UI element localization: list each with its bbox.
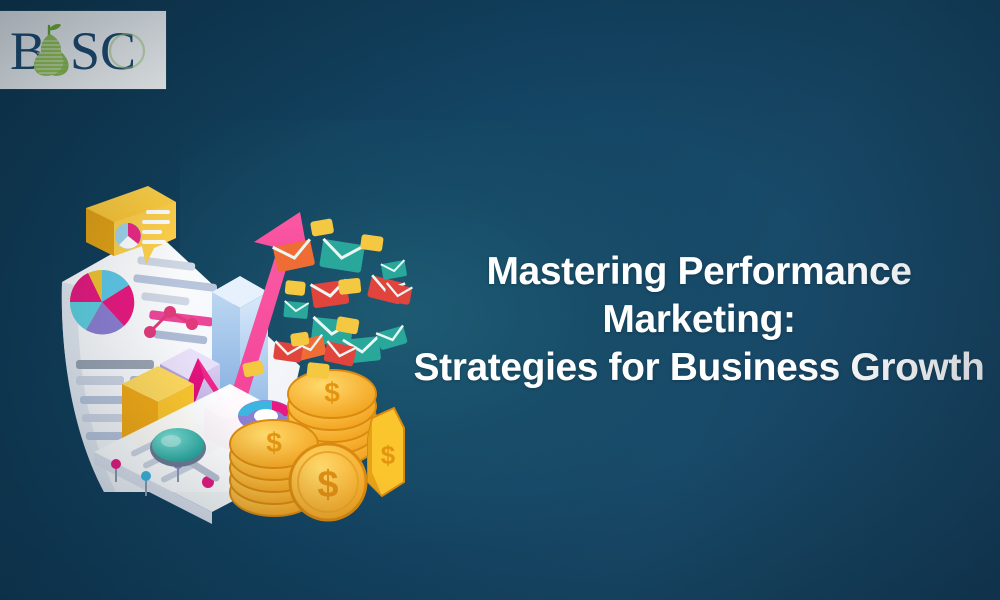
svg-text:$: $ xyxy=(317,464,338,506)
svg-text:SC: SC xyxy=(70,21,136,81)
svg-text:$: $ xyxy=(266,427,282,458)
title-line-2: Marketing: xyxy=(410,296,988,344)
coin-front: $ xyxy=(290,444,366,520)
graph-node xyxy=(186,318,198,330)
graph-node xyxy=(144,326,156,338)
svg-text:$: $ xyxy=(381,440,396,470)
money-bag: $ xyxy=(368,408,404,496)
bubble-pie-icon xyxy=(115,223,141,249)
title-line-1: Mastering Performance xyxy=(410,248,988,296)
logo-letters-sc: SC xyxy=(70,21,136,81)
promo-banner: B SC xyxy=(0,0,1000,600)
marketing-analytics-illustration: $ $ $ xyxy=(42,152,422,532)
graph-node xyxy=(164,306,176,318)
logo-bosc[interactable]: B SC xyxy=(0,11,166,89)
pie-chart xyxy=(70,270,134,334)
title-line-3: Strategies for Business Growth xyxy=(410,344,988,392)
svg-text:$: $ xyxy=(324,377,340,408)
page-title: Mastering Performance Marketing: Strateg… xyxy=(410,248,988,392)
